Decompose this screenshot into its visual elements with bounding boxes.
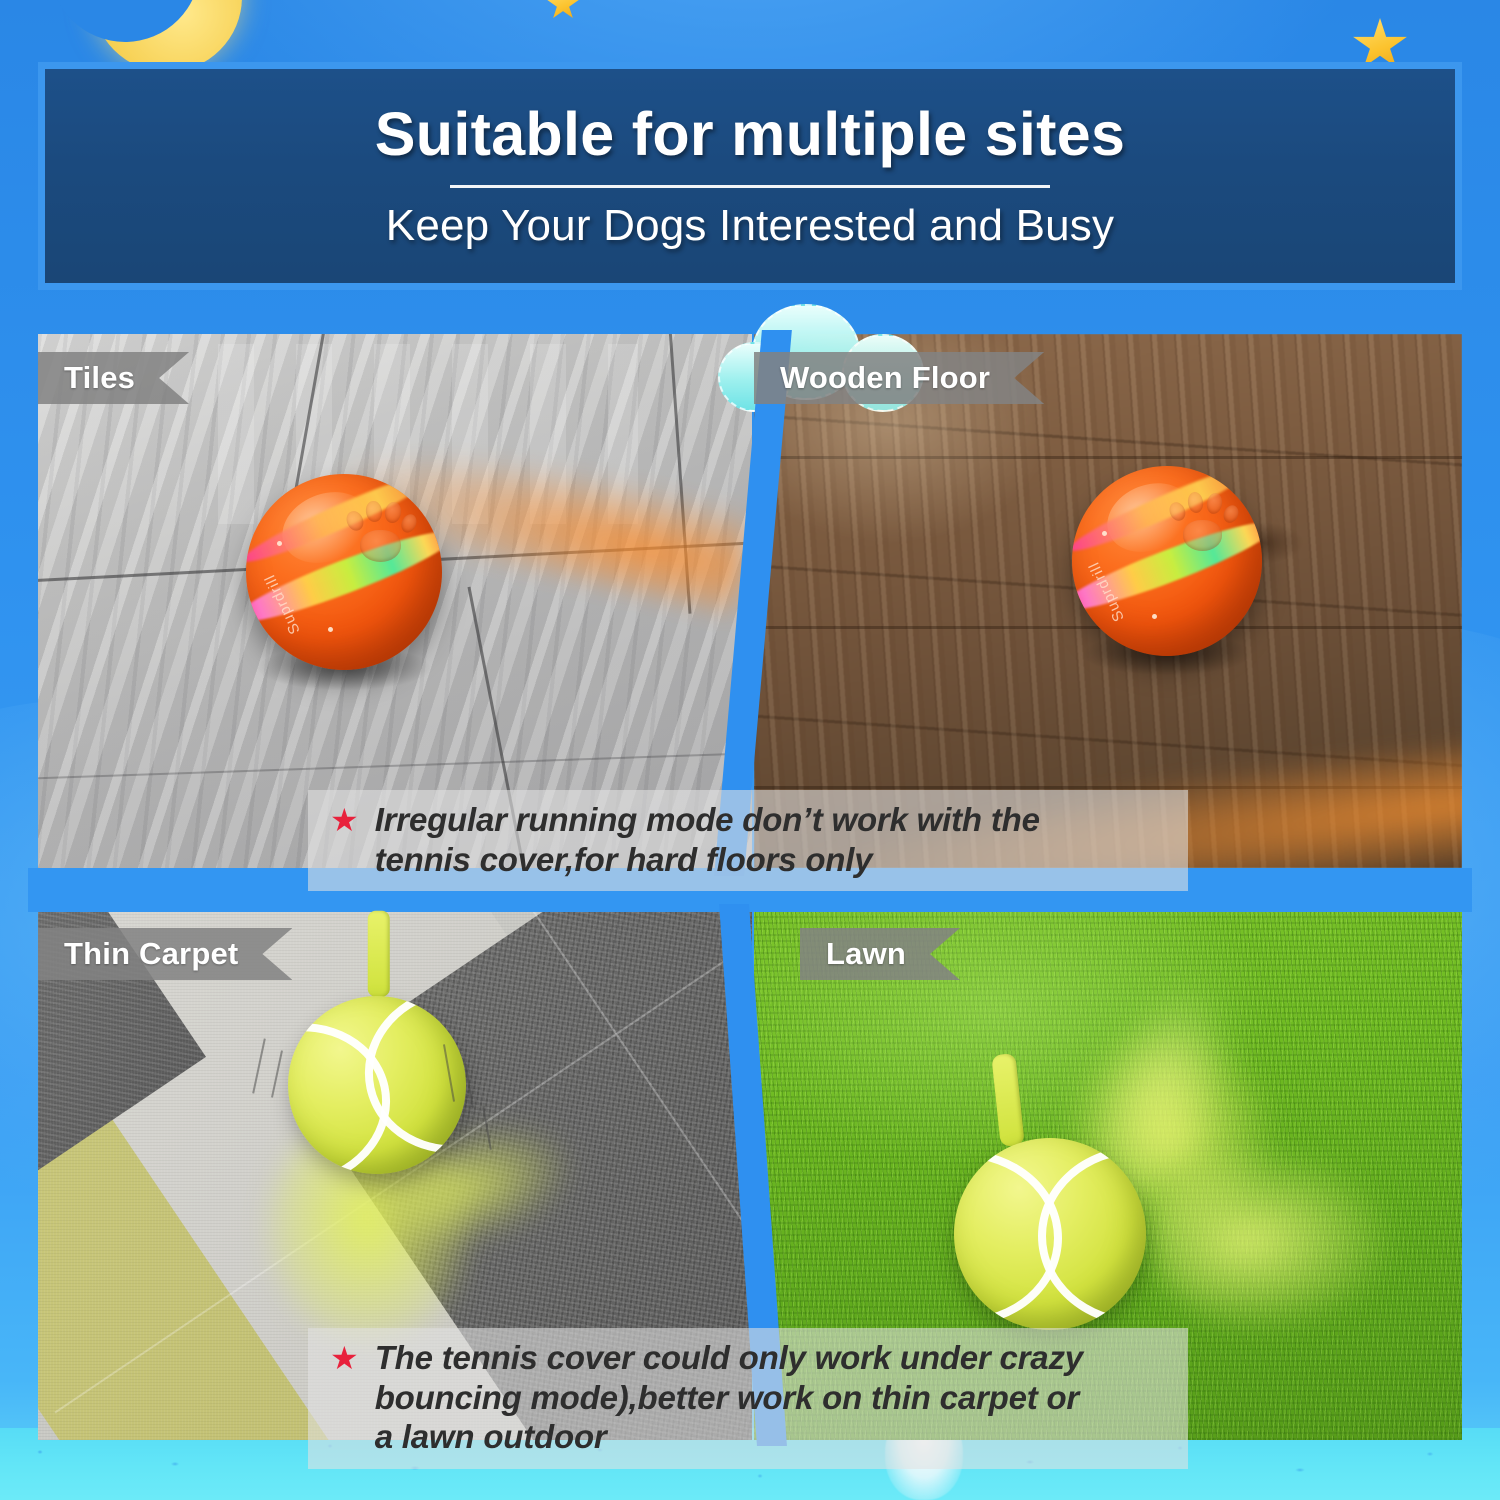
paw-print-icon: [1169, 491, 1237, 556]
tennis-ball-cover: [954, 1138, 1146, 1330]
caption-tennis-cover: ★ The tennis cover could only work under…: [308, 1328, 1188, 1469]
header-banner: Suitable for multiple sites Keep Your Do…: [38, 62, 1462, 290]
badge-wooden-floor[interactable]: Wooden Floor: [754, 352, 1044, 404]
caption-hard-floors: ★ Irregular running mode don’t work with…: [308, 790, 1188, 891]
page-title: Suitable for multiple sites: [375, 104, 1125, 165]
ball-body: Suprdrill: [1072, 466, 1262, 656]
tennis-ball-motion-blur: [1150, 1150, 1390, 1330]
caption-text: Irregular running mode don’t work with t…: [375, 800, 1040, 879]
header-divider: [450, 185, 1050, 188]
tennis-seam: [1038, 1146, 1146, 1326]
ball-body: Suprdrill: [246, 474, 442, 670]
product-ball-orange: Suprdrill: [1072, 466, 1262, 656]
star-bullet-icon: ★: [330, 802, 359, 840]
tennis-ball-body: [954, 1138, 1146, 1330]
product-ball-orange: Suprdrill: [246, 474, 442, 670]
badge-thin-carpet[interactable]: Thin Carpet: [38, 928, 292, 980]
caption-text: The tennis cover could only work under c…: [375, 1338, 1083, 1457]
page-subtitle: Keep Your Dogs Interested and Busy: [386, 204, 1114, 248]
star-bullet-icon: ★: [330, 1340, 359, 1378]
paw-dot-icon: [1152, 614, 1157, 619]
paw-print-icon: [346, 499, 417, 566]
tennis-ball-tail: [368, 911, 390, 997]
paw-dot-icon: [328, 627, 333, 632]
